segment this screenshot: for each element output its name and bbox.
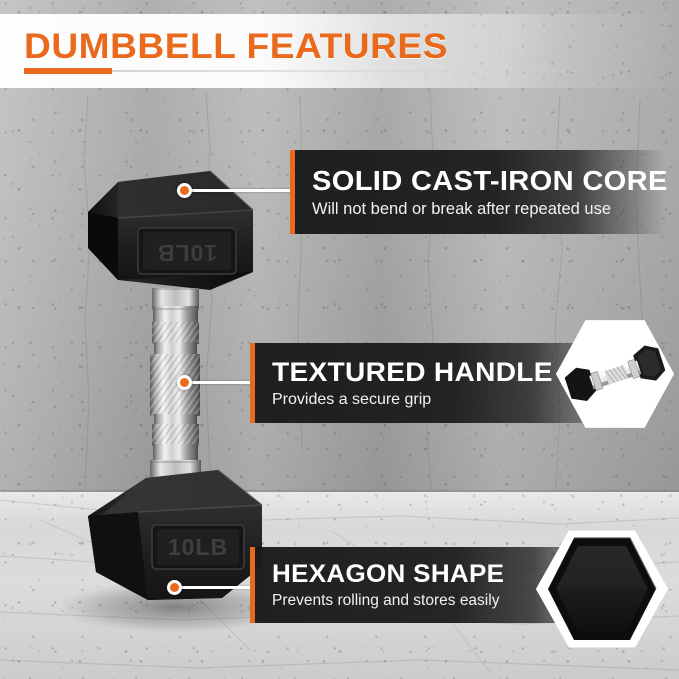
marker-dot-hexagon <box>167 580 182 595</box>
feature-subtitle-core: Will not bend or break after repeated us… <box>312 200 666 219</box>
hex-endcap-illustration <box>536 528 668 650</box>
accent-bar-handle <box>250 343 255 423</box>
inset-photo-handle <box>556 318 674 430</box>
title-underline-bar <box>24 68 112 74</box>
feature-title-core: SOLID CAST-IRON CORE <box>312 165 679 197</box>
accent-bar-hexagon <box>250 547 255 623</box>
accent-bar-core <box>290 150 295 234</box>
leader-line-handle <box>186 381 252 384</box>
leader-line-hexagon <box>176 586 252 589</box>
page-title: DUMBBELL FEATURES <box>24 27 448 67</box>
feature-callout-core[interactable]: SOLID CAST-IRON CORE Will not bend or br… <box>290 150 666 234</box>
marker-dot-core <box>177 183 192 198</box>
title-underline-tail <box>112 70 632 72</box>
marker-dot-handle <box>177 375 192 390</box>
leader-line-core <box>186 189 292 192</box>
handle-closeup-illustration <box>556 318 674 430</box>
infographic-canvas: DUMBBELL FEATURES <box>0 0 679 679</box>
inset-photo-hexagon <box>536 528 668 650</box>
